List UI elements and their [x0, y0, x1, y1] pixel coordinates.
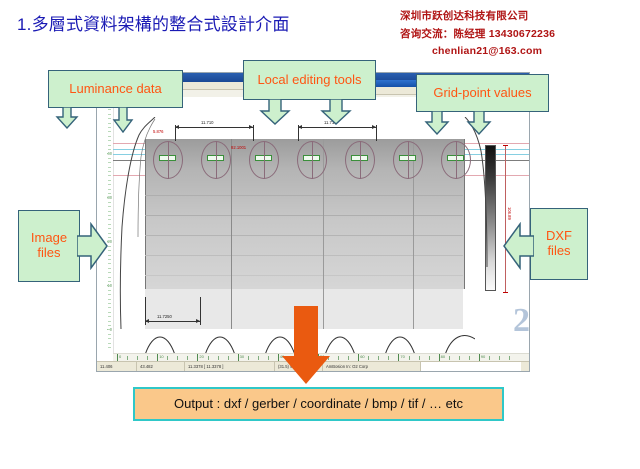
page-title: 1.多層式資料架構的整合式設計介面: [17, 10, 290, 35]
status-cell-blank: [421, 362, 521, 371]
callout-image-files-line1: Image: [31, 231, 67, 246]
arrow-grid-points-right: [466, 111, 492, 135]
arrow-grid-points-left: [424, 111, 450, 135]
dim-label-921001: 92.1001: [231, 145, 246, 150]
callout-dxf-files[interactable]: DXF files: [530, 208, 588, 280]
callout-dxf-files-line1: DXF: [546, 229, 572, 244]
window-titlebar-strip: [371, 80, 421, 87]
dim-label-11710-a: 11.710: [201, 120, 214, 125]
arrow-luminance-down: [55, 107, 79, 129]
contact-line: 咨询交流：陈经理 13430672236: [400, 26, 555, 41]
x-tick-label-20: 20: [199, 354, 203, 359]
arrow-dxf-files-left: [502, 222, 534, 270]
slide-root: 1.多層式資料架構的整合式設計介面 深圳市跃创达科技有限公司 咨询交流：陈经理 …: [0, 0, 640, 469]
status-cell-x: 11.406: [97, 362, 137, 371]
status-cell-company: AmBosion In: O2 Corp: [323, 362, 421, 371]
arrow-local-tools-right: [320, 99, 352, 125]
status-cell-y: 43.482: [137, 362, 185, 371]
watermark-logo: 2: [513, 302, 529, 340]
callout-grid-point-values[interactable]: Grid-point values: [416, 74, 549, 112]
contact-email: chenlian21@163.com: [432, 45, 542, 57]
callout-image-files[interactable]: Image files: [18, 210, 80, 282]
arrow-output-down: [280, 306, 332, 386]
arrow-image-files-right: [77, 222, 109, 270]
x-tick-label-10: 10: [159, 354, 163, 359]
luminance-curve-left: [113, 117, 173, 332]
x-tick-label-70: 70: [400, 354, 404, 359]
window-menubar-strip: [371, 87, 421, 95]
arrow-local-tools-left: [259, 99, 291, 125]
x-tick-label-30: 30: [240, 354, 244, 359]
callout-luminance-data[interactable]: Luminance data: [48, 70, 183, 108]
x-tick-label-0: 0: [119, 354, 121, 359]
company-name: 深圳市跃创达科技有限公司: [400, 8, 528, 23]
x-tick-label-80: 80: [441, 354, 445, 359]
status-cell-value: 11.3378 [ 11.3378 ]: [185, 362, 275, 371]
callout-image-files-line2: files: [31, 246, 67, 261]
arrow-luminance-to-window: [112, 107, 134, 133]
luminance-curve-right: [463, 117, 508, 297]
callout-output-formats[interactable]: Output : dxf / gerber / coordinate / bmp…: [133, 387, 504, 421]
x-tick-label-90: 90: [481, 354, 485, 359]
callout-local-editing[interactable]: Local editing tools: [243, 60, 376, 100]
x-tick-label-60: 60: [360, 354, 364, 359]
callout-dxf-files-line2: files: [546, 244, 572, 259]
